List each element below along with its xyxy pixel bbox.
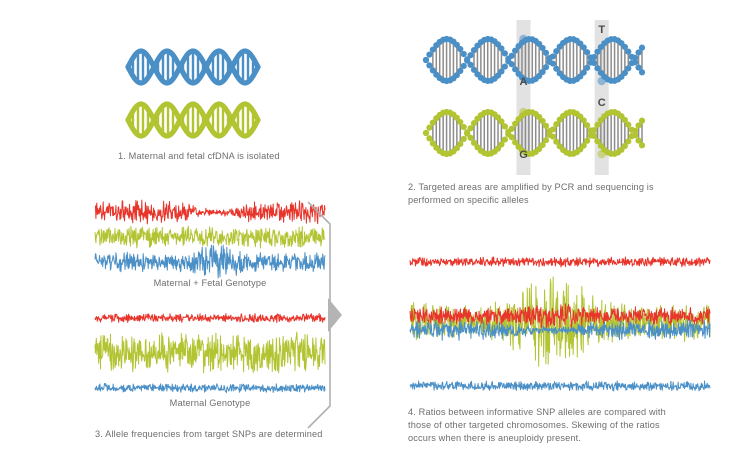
green-allele-trace <box>95 332 325 373</box>
step-2-caption: 2. Targeted areas are amplified by PCR a… <box>408 181 708 207</box>
bead-dna-allele-graphic: ATGC <box>420 20 650 175</box>
step-4-caption: 4. Ratios between informative SNP allele… <box>408 406 718 445</box>
bracket-arrow-icon <box>300 198 360 432</box>
blue-allele-trace <box>95 383 325 392</box>
aneuploidy-ratio-traces <box>410 250 710 398</box>
allele-marker-bead <box>598 150 606 158</box>
red-reference-trace <box>410 257 710 267</box>
maternal-genotype-label: Maternal Genotype <box>95 398 325 408</box>
blue-bead-strand <box>423 36 645 84</box>
maternal-helix <box>128 51 258 83</box>
step-2-panel: ATGC <box>420 20 650 175</box>
blue-allele-trace <box>95 245 325 278</box>
flow-bracket-arrow <box>300 198 360 432</box>
allele-letter-t: T <box>598 24 605 36</box>
maternal-fetal-genotype-group: Maternal + Fetal Genotype <box>95 198 325 276</box>
blue-reference-trace <box>410 381 710 391</box>
step-3-panel: Maternal + Fetal Genotype Maternal Genot… <box>95 198 325 443</box>
red-allele-trace <box>95 314 325 323</box>
step-1-caption: 1. Maternal and fetal cfDNA is isolated <box>118 150 378 163</box>
figure-canvas: 1. Maternal and fetal cfDNA is isolated … <box>0 0 736 475</box>
green-bead-strand <box>423 109 645 157</box>
allele-marker-bead <box>519 108 527 116</box>
allele-marker-bead <box>519 35 527 43</box>
allele-letter-c: C <box>598 97 606 109</box>
maternal-fetal-genotype-traces <box>95 198 325 276</box>
green-allele-trace <box>95 226 325 248</box>
red-allele-trace <box>95 200 325 224</box>
fetal-helix <box>128 104 258 136</box>
maternal-genotype-group: Maternal Genotype <box>95 308 325 396</box>
allele-marker-bead <box>598 77 606 85</box>
allele-letter-g: G <box>519 149 528 161</box>
maternal-genotype-traces <box>95 308 325 396</box>
maternal-fetal-genotype-label: Maternal + Fetal Genotype <box>95 278 325 288</box>
allele-letter-a: A <box>520 76 528 88</box>
